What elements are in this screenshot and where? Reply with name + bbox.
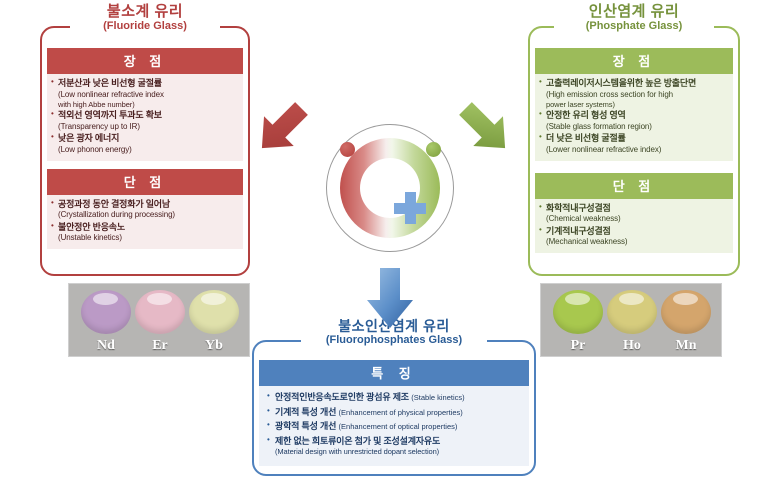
glass-disc-nd (81, 290, 131, 334)
disc-gloss (673, 293, 698, 305)
panel-title-fluoride-kr: 불소계 유리 (42, 4, 248, 20)
arrow-fluoride-to-center (250, 98, 312, 165)
list-item: 기계적내구성결점 (Mechanical weakness) (539, 226, 728, 248)
section-fluorophosphate-features: 특 징 안정적인반응속도로인한 광섬유 제조 (Stable kinetics)… (259, 360, 529, 466)
gradient-donut (340, 138, 440, 238)
section-body-advantages-phosphate: 고출력레이저시스템을위한 높은 방출단면 (High emission cros… (535, 74, 733, 161)
list-item: 안정한 유리 형성 영역 (Stable glass formation reg… (539, 110, 728, 132)
section-heading-features: 특 징 (259, 360, 529, 386)
section-phosphate-advantages: 장 점 고출력레이저시스템을위한 높은 방출단면 (High emission … (535, 48, 733, 161)
list-item: 공정과정 동안 결정화가 일어남 (Crystallization during… (51, 199, 238, 221)
panel-title-phosphate-kr: 인산염계 유리 (530, 4, 738, 20)
disc-label-yb: Yb (189, 338, 239, 354)
arrow-center-to-result (362, 268, 418, 335)
list-item: 더 낮은 비선형 굴절률 (Lower nonlinear refractive… (539, 133, 728, 155)
center-combination-graphic (318, 118, 462, 270)
section-body-advantages-fluoride: 저분산과 낮은 비선형 굴절률 (Low nonlinear refractiv… (47, 74, 243, 161)
panel-fluorophosphates-glass: 불소인산염계 유리 (Fluorophosphates Glass) 특 징 안… (252, 340, 536, 476)
disc-gloss (147, 293, 172, 305)
panel-title-phosphate: 인산염계 유리 (Phosphate Glass) (530, 4, 738, 32)
disc-label-mn: Mn (661, 338, 711, 354)
list-item: 광학적 특성 개선 (Enhancement of optical proper… (267, 421, 522, 433)
panel-fluoride-glass: 불소계 유리 (Fluoride Glass) 장 점 저분산과 낮은 비선형 … (40, 26, 250, 276)
panel-title-fluoride: 불소계 유리 (Fluoride Glass) (42, 4, 248, 32)
section-body-disadvantages-fluoride: 공정과정 동안 결정화가 일어남 (Crystallization during… (47, 195, 243, 250)
disc-label-ho: Ho (607, 338, 657, 354)
list-item: 화학적내구성결점 (Chemical weakness) (539, 203, 728, 225)
section-fluoride-disadvantages: 단 점 공정과정 동안 결정화가 일어남 (Crystallization du… (47, 169, 243, 250)
disc-gloss (201, 293, 226, 305)
list-item: 적외선 영역까지 투과도 확보 (Transparency up to IR) (51, 110, 238, 132)
section-heading-advantages-fluoride: 장 점 (47, 48, 243, 74)
section-heading-disadvantages-fluoride: 단 점 (47, 169, 243, 195)
list-item: 낮은 광자 에너지 (Low phonon energy) (51, 133, 238, 155)
photo-phosphate-glass-samples: Pr Ho Mn (540, 283, 722, 357)
disc-label-pr: Pr (553, 338, 603, 354)
disc-gloss (93, 293, 118, 305)
list-item: 제한 없는 희토류이온 첨가 및 조성설계자유도 (Material desig… (267, 436, 522, 457)
disc-gloss (565, 293, 590, 305)
glass-disc-er (135, 290, 185, 334)
list-item: 저분산과 낮은 비선형 굴절률 (Low nonlinear refractiv… (51, 78, 238, 109)
arrow-phosphate-to-center (455, 98, 517, 165)
glass-disc-yb (189, 290, 239, 334)
section-heading-disadvantages-phosphate: 단 점 (535, 173, 733, 199)
donut-hole (360, 158, 420, 218)
section-heading-advantages-phosphate: 장 점 (535, 48, 733, 74)
section-body-disadvantages-phosphate: 화학적내구성결점 (Chemical weakness) 기계적내구성결점 (M… (535, 199, 733, 254)
glass-disc-mn (661, 290, 711, 334)
panel-title-fluorophosphate-en: (Fluorophosphates Glass) (254, 335, 534, 347)
panel-title-fluoride-en: (Fluoride Glass) (42, 21, 248, 33)
section-phosphate-disadvantages: 단 점 화학적내구성결점 (Chemical weakness) 기계적내구성결… (535, 173, 733, 254)
section-fluoride-advantages: 장 점 저분산과 낮은 비선형 굴절률 (Low nonlinear refra… (47, 48, 243, 161)
plus-icon-vertical-bar (405, 192, 416, 224)
disc-gloss (619, 293, 644, 305)
panel-phosphate-glass: 인산염계 유리 (Phosphate Glass) 장 점 고출력레이저시스템을… (528, 26, 740, 276)
photo-fluoride-glass-samples: Nd Er Yb (68, 283, 250, 357)
disc-label-er: Er (135, 338, 185, 354)
panel-title-phosphate-en: (Phosphate Glass) (530, 21, 738, 33)
plus-icon (394, 192, 426, 224)
list-item: 안정적인반응속도로인한 광섬유 제조 (Stable kinetics) (267, 392, 522, 404)
diagram-canvas: 불소계 유리 (Fluoride Glass) 장 점 저분산과 낮은 비선형 … (0, 0, 779, 487)
disc-label-nd: Nd (81, 338, 131, 354)
list-item: 불안정안 반응속노 (Unstable kinetics) (51, 222, 238, 244)
list-item: 기계적 특성 개선 (Enhancement of physical prope… (267, 407, 522, 419)
section-body-features: 안정적인반응속도로인한 광섬유 제조 (Stable kinetics) 기계적… (259, 386, 529, 466)
glass-disc-ho (607, 290, 657, 334)
glass-disc-pr (553, 290, 603, 334)
orbit-dot-phosphate (426, 142, 441, 157)
list-item: 고출력레이저시스템을위한 높은 방출단면 (High emission cros… (539, 78, 728, 109)
